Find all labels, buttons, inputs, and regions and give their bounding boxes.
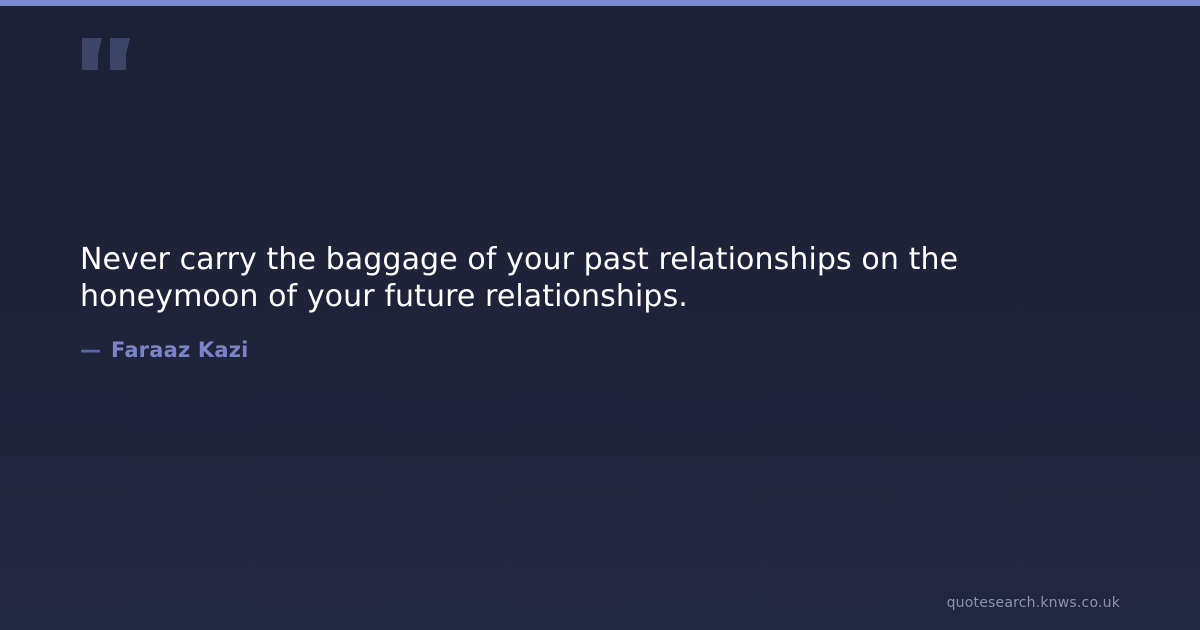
quote-attribution: — Faraaz Kazi: [80, 338, 249, 362]
attribution-author-name: Faraaz Kazi: [111, 338, 249, 362]
double-quote-open-icon: [80, 16, 150, 80]
top-accent-bar: [0, 0, 1200, 6]
attribution-dash: —: [80, 338, 101, 362]
quote-card: Never carry the baggage of your past rel…: [0, 0, 1200, 630]
quote-text: Never carry the baggage of your past rel…: [80, 241, 1040, 315]
site-watermark: quotesearch.knws.co.uk: [947, 595, 1120, 611]
quote-body: Never carry the baggage of your past rel…: [80, 241, 1040, 315]
